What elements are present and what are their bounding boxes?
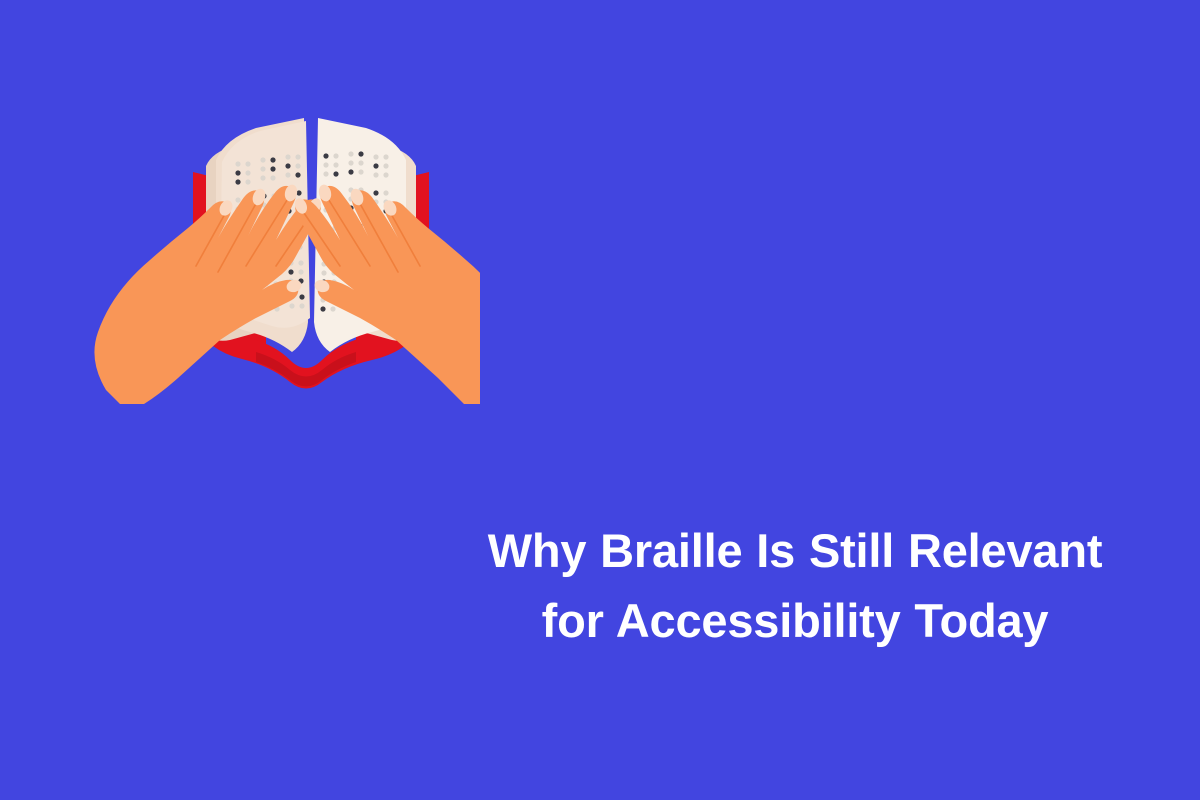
- braille-blog-banner: Why Braille Is Still Relevant for Access…: [0, 0, 1200, 800]
- page-title: Why Braille Is Still Relevant for Access…: [455, 516, 1135, 655]
- hands-reading-braille-book-illustration: [60, 60, 480, 405]
- headline-block: Why Braille Is Still Relevant for Access…: [455, 516, 1135, 655]
